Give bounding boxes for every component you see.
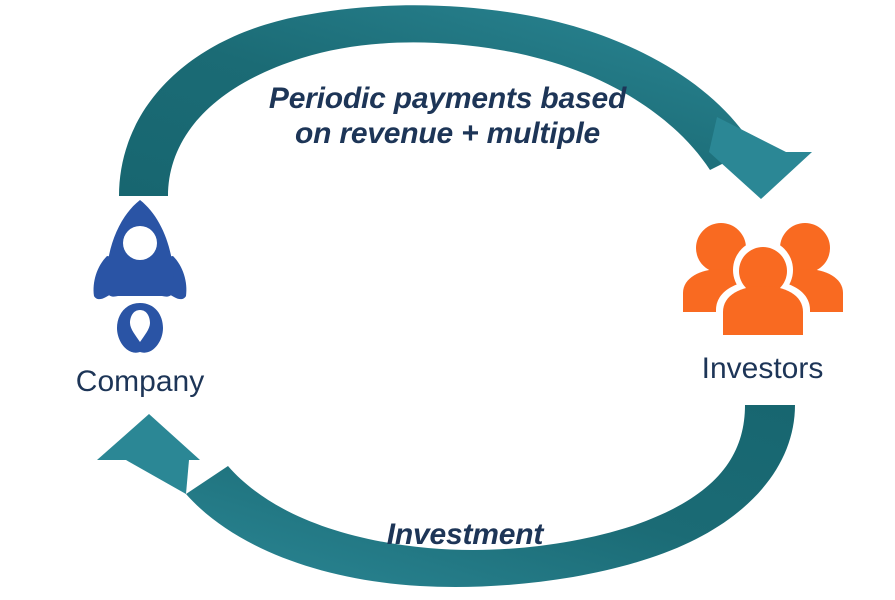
diagram-canvas: Periodic payments basedon revenue + mult… xyxy=(0,0,895,600)
flow-label-investment: Investment xyxy=(325,518,605,553)
rocket-icon xyxy=(94,200,187,353)
node-label-investors: Investors xyxy=(660,352,865,387)
arrow-investment-head-neck xyxy=(126,460,189,494)
flow-label-payments: Periodic payments basedon revenue + mult… xyxy=(215,82,680,151)
flow-label-investment-line1: Investment xyxy=(387,518,543,551)
arrow-investment-head xyxy=(97,414,200,460)
arrow-investment-investors-to-company xyxy=(97,405,795,587)
person-body-center xyxy=(723,286,803,335)
arrow-payments-head xyxy=(709,152,812,199)
arrow-payments-head-neck xyxy=(709,117,786,152)
arrow-investment-arc xyxy=(186,405,795,587)
people-group-icon xyxy=(683,223,843,337)
rocket-window xyxy=(123,226,157,260)
flow-label-payments-line2: on revenue + multiple xyxy=(295,117,600,150)
flow-label-payments-line1: Periodic payments based xyxy=(269,82,626,115)
node-label-company: Company xyxy=(40,365,240,400)
